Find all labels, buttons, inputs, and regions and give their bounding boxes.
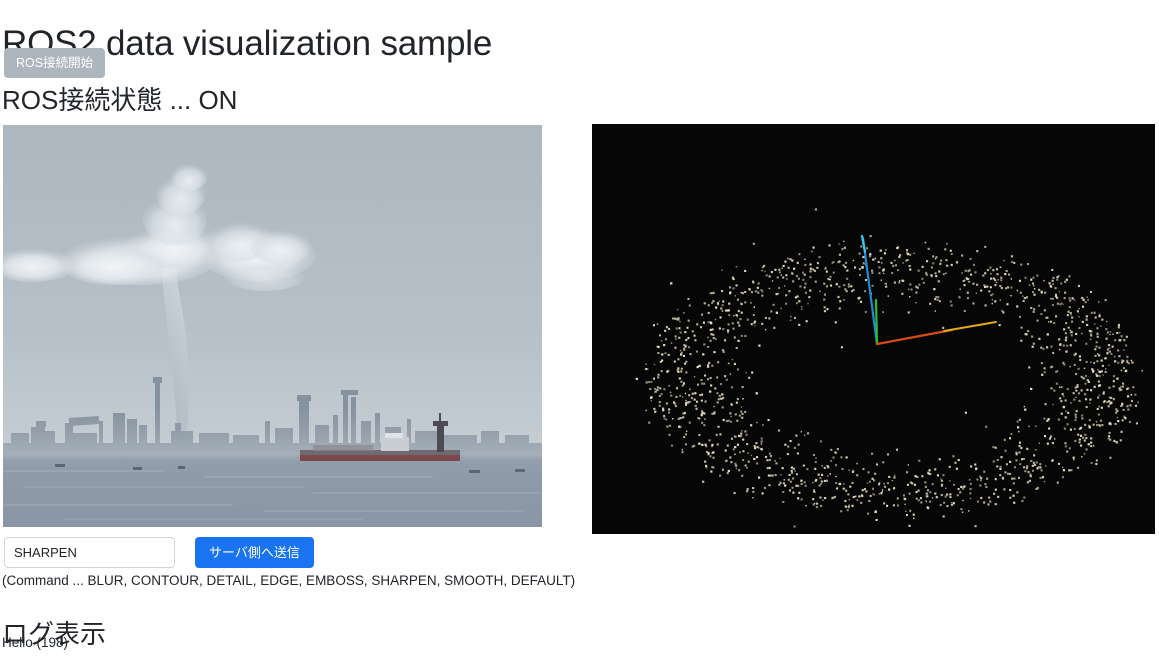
command-input[interactable] [4,537,175,568]
command-hint: (Command ... BLUR, CONTOUR, DETAIL, EDGE… [2,572,575,590]
log-line: Hello (198) [2,634,68,652]
send-to-server-button[interactable]: サーバ側へ送信 [195,537,314,568]
ros-connection-status: ROS接続状態 ... ON [2,82,237,118]
ros-connect-button-label: ROS接続開始 [16,57,93,70]
send-to-server-button-label: サーバ側へ送信 [209,546,300,559]
pointcloud-canvas[interactable] [592,124,1155,534]
ros-connect-button[interactable]: ROS接続開始 [4,48,105,78]
pointcloud-viewer[interactable] [592,124,1155,534]
axis-y-line [876,300,877,344]
camera-image-panel [3,125,542,527]
camera-image [3,125,542,527]
app-root: ROS2 data visualization sample ROS接続開始 R… [0,0,1159,661]
